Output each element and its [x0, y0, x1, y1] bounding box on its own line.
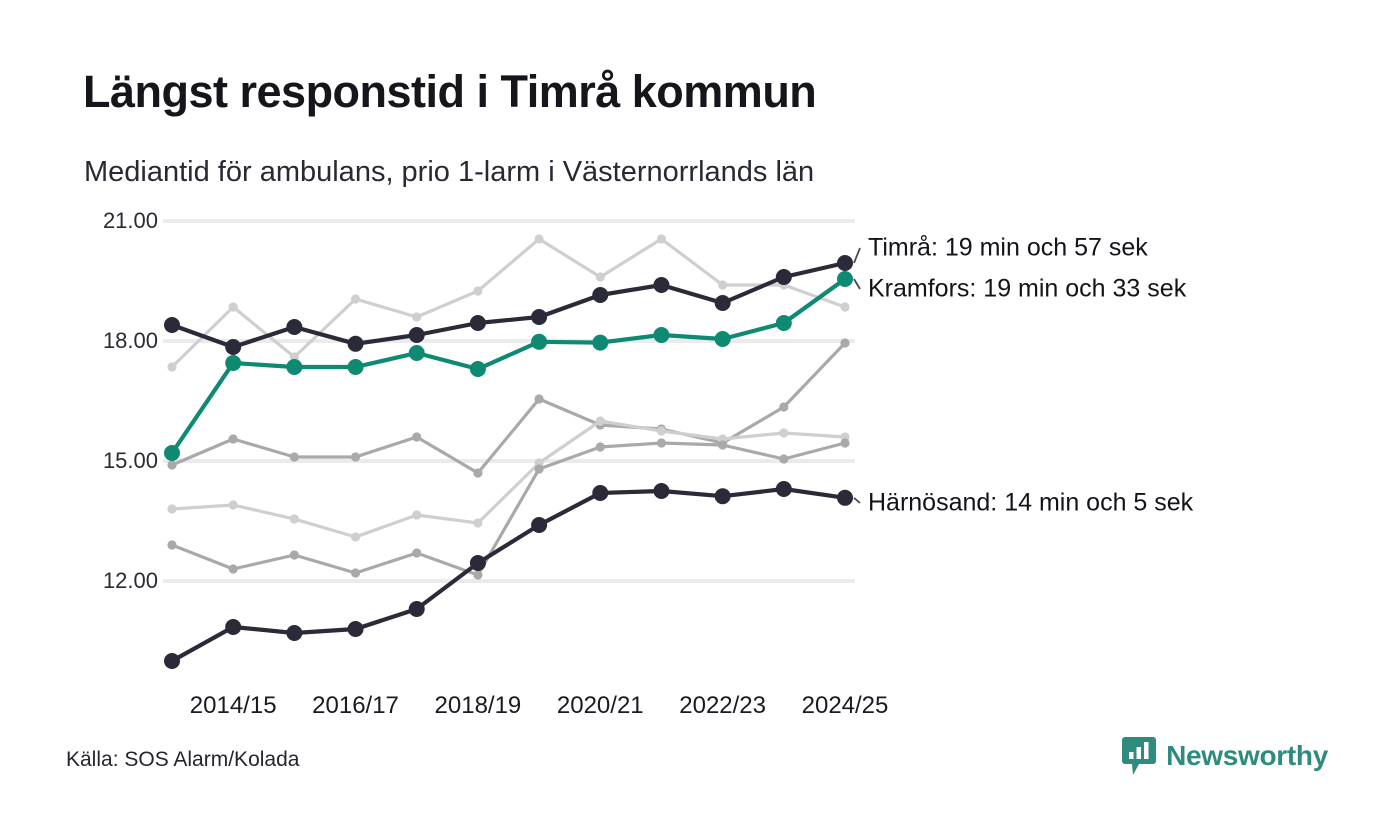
chart-canvas: Längst responstid i Timrå kommun Mediant…	[0, 0, 1400, 840]
data-point	[718, 440, 727, 449]
timra-annotation: Timrå: 19 min och 57 sek	[868, 234, 1148, 263]
leader-line	[854, 498, 860, 503]
data-point	[409, 345, 425, 361]
logo-wordmark: Newsworthy	[1166, 740, 1328, 772]
data-point	[531, 334, 547, 350]
data-point	[596, 272, 605, 281]
x-tick-label: 2022/23	[679, 692, 766, 720]
data-point	[351, 532, 360, 541]
series-kramfors	[164, 271, 853, 461]
data-point	[657, 438, 666, 447]
data-point	[653, 277, 669, 293]
x-tick-label: 2016/17	[312, 692, 399, 720]
data-point	[531, 309, 547, 325]
newsworthy-logo[interactable]: Newsworthy	[1122, 737, 1328, 775]
data-point	[470, 361, 486, 377]
data-point	[840, 302, 849, 311]
series-layer	[164, 234, 853, 669]
data-point	[718, 280, 727, 289]
series-härnösand	[164, 481, 853, 669]
data-point	[534, 464, 543, 473]
data-point	[653, 483, 669, 499]
data-point	[592, 485, 608, 501]
data-point	[167, 362, 176, 371]
data-point	[412, 432, 421, 441]
data-point	[592, 287, 608, 303]
gridlines	[163, 221, 855, 581]
data-point	[229, 500, 238, 509]
data-point	[348, 359, 364, 375]
x-tick-label: 2024/25	[802, 692, 889, 720]
data-point	[657, 234, 666, 243]
data-point	[470, 555, 486, 571]
x-tick-label: 2018/19	[435, 692, 522, 720]
data-point	[779, 428, 788, 437]
y-tick-label: 21.00	[48, 208, 158, 234]
data-point	[290, 514, 299, 523]
data-point	[473, 570, 482, 579]
annotation-leader-lines	[854, 248, 860, 503]
data-point	[715, 331, 731, 347]
data-point	[776, 269, 792, 285]
data-point	[164, 317, 180, 333]
data-point	[351, 452, 360, 461]
harnosand-annotation: Härnösand: 14 min och 5 sek	[868, 489, 1193, 518]
data-point	[779, 402, 788, 411]
data-point	[412, 548, 421, 557]
data-point	[167, 460, 176, 469]
data-point	[473, 468, 482, 477]
data-point	[290, 452, 299, 461]
data-point	[412, 312, 421, 321]
data-point	[657, 426, 666, 435]
data-point	[167, 504, 176, 513]
data-point	[167, 540, 176, 549]
leader-line	[854, 248, 860, 263]
kramfors-annotation: Kramfors: 19 min och 33 sek	[868, 275, 1186, 304]
x-tick-label: 2014/15	[190, 692, 277, 720]
y-tick-label: 15.00	[48, 448, 158, 474]
data-point	[351, 294, 360, 303]
data-point	[596, 416, 605, 425]
series-övrig-kommun-2	[167, 338, 849, 477]
leader-line	[854, 279, 860, 289]
data-point	[840, 438, 849, 447]
data-point	[840, 338, 849, 347]
data-point	[409, 601, 425, 617]
data-point	[225, 339, 241, 355]
data-point	[229, 564, 238, 573]
data-point	[473, 286, 482, 295]
data-point	[837, 490, 853, 506]
x-tick-label: 2020/21	[557, 692, 644, 720]
data-point	[348, 621, 364, 637]
data-point	[229, 302, 238, 311]
data-point	[290, 550, 299, 559]
data-point	[286, 319, 302, 335]
data-point	[351, 568, 360, 577]
y-tick-label: 18.00	[48, 328, 158, 354]
data-point	[653, 327, 669, 343]
source-note: Källa: SOS Alarm/Kolada	[66, 748, 299, 772]
data-point	[286, 359, 302, 375]
data-point	[776, 481, 792, 497]
data-point	[164, 653, 180, 669]
bar-chart-bubble-icon	[1122, 737, 1156, 775]
data-point	[409, 327, 425, 343]
data-point	[470, 315, 486, 331]
data-point	[534, 234, 543, 243]
y-tick-label: 12.00	[48, 568, 158, 594]
data-point	[592, 335, 608, 351]
data-point	[225, 355, 241, 371]
data-point	[412, 510, 421, 519]
data-point	[164, 445, 180, 461]
data-point	[534, 394, 543, 403]
data-point	[225, 619, 241, 635]
data-point	[837, 271, 853, 287]
data-point	[776, 315, 792, 331]
data-point	[779, 454, 788, 463]
data-point	[473, 518, 482, 527]
data-point	[715, 295, 731, 311]
series-övrig-kommun-1	[167, 234, 849, 371]
data-point	[286, 625, 302, 641]
data-point	[596, 442, 605, 451]
data-point	[715, 488, 731, 504]
data-point	[229, 434, 238, 443]
data-point	[348, 336, 364, 352]
data-point	[531, 517, 547, 533]
data-point	[837, 255, 853, 271]
